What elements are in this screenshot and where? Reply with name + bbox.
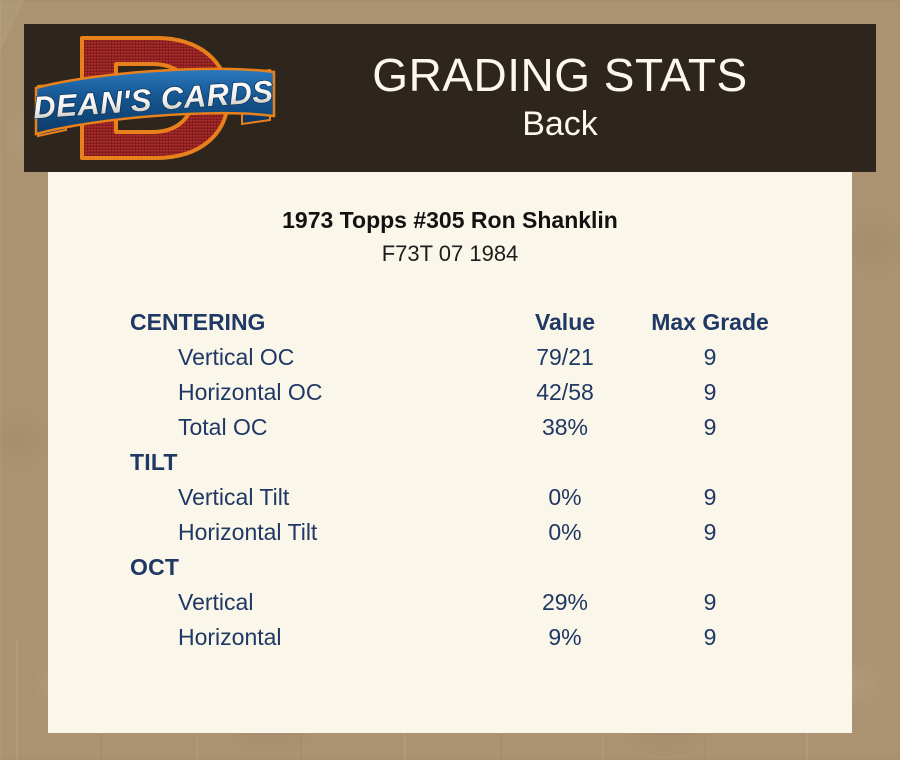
row-grade: 9 (640, 480, 780, 515)
page-subtitle: Back (284, 103, 836, 146)
table-row: Horizontal 9% 9 (120, 620, 780, 655)
table-section-header: OCT (120, 550, 780, 585)
table-row: Vertical Tilt 0% 9 (120, 480, 780, 515)
section-value-spacer (490, 550, 640, 585)
table-row: Horizontal OC 42/58 9 (120, 375, 780, 410)
row-label: Vertical OC (120, 340, 490, 375)
table-row: Vertical OC 79/21 9 (120, 340, 780, 375)
column-header-value: Value (490, 305, 640, 340)
card-identifier: F73T 07 1984 (48, 239, 852, 269)
table-section-header: TILT (120, 445, 780, 480)
row-value: 0% (490, 515, 640, 550)
header-bar: DEAN'S CARDS GRADING STATS Back (24, 24, 876, 172)
stats-table-body: CENTERING Value Max Grade Vertical OC 79… (120, 305, 780, 655)
logo-graphic: DEAN'S CARDS (24, 24, 284, 172)
row-label: Horizontal OC (120, 375, 490, 410)
table-row: Horizontal Tilt 0% 9 (120, 515, 780, 550)
row-grade: 9 (640, 340, 780, 375)
card-title: 1973 Topps #305 Ron Shanklin (48, 206, 852, 236)
content-panel: 1973 Topps #305 Ron Shanklin F73T 07 198… (48, 172, 852, 733)
row-value: 42/58 (490, 375, 640, 410)
row-value: 79/21 (490, 340, 640, 375)
row-label: Vertical Tilt (120, 480, 490, 515)
section-label: TILT (120, 445, 490, 480)
table-row: Total OC 38% 9 (120, 410, 780, 445)
row-value: 0% (490, 480, 640, 515)
grading-stats-table: CENTERING Value Max Grade Vertical OC 79… (120, 305, 780, 655)
header-title-block: GRADING STATS Back (284, 51, 876, 145)
row-label: Vertical (120, 585, 490, 620)
column-header-centering: CENTERING (120, 305, 490, 340)
row-grade: 9 (640, 585, 780, 620)
row-label: Total OC (120, 410, 490, 445)
table-header-row: CENTERING Value Max Grade (120, 305, 780, 340)
row-value: 38% (490, 410, 640, 445)
row-value: 29% (490, 585, 640, 620)
deans-cards-logo[interactable]: DEAN'S CARDS (24, 24, 284, 172)
row-grade: 9 (640, 410, 780, 445)
row-label: Horizontal (120, 620, 490, 655)
row-grade: 9 (640, 620, 780, 655)
column-header-max-grade: Max Grade (640, 305, 780, 340)
section-value-spacer (490, 445, 640, 480)
table-row: Vertical 29% 9 (120, 585, 780, 620)
row-value: 9% (490, 620, 640, 655)
section-label: OCT (120, 550, 490, 585)
row-label: Horizontal Tilt (120, 515, 490, 550)
page-title: GRADING STATS (284, 51, 836, 101)
section-grade-spacer (640, 550, 780, 585)
row-grade: 9 (640, 375, 780, 410)
row-grade: 9 (640, 515, 780, 550)
section-grade-spacer (640, 445, 780, 480)
